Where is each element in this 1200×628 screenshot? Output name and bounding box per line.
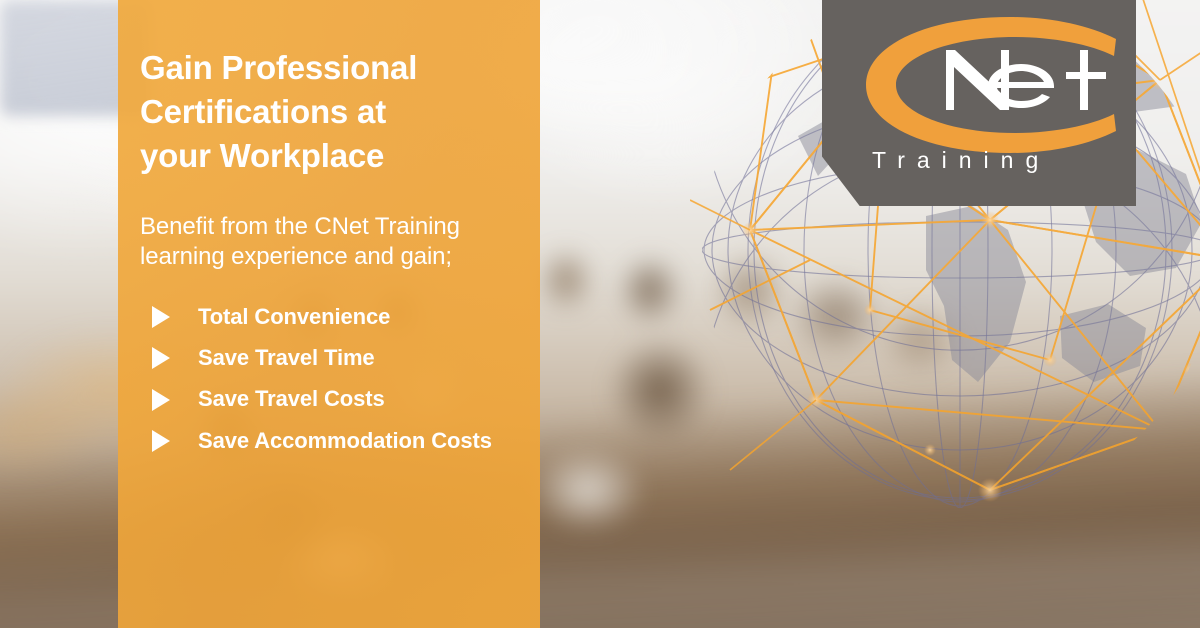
list-item: Save Travel Time <box>140 346 526 370</box>
subheading-line-2: learning experience and gain; <box>140 242 526 273</box>
logo-artwork: Training <box>822 0 1136 206</box>
promo-banner: Gain Professional Certifications at your… <box>0 0 1200 628</box>
triangle-right-icon <box>152 389 170 411</box>
benefit-label: Save Travel Time <box>198 346 375 370</box>
list-item: Save Accommodation Costs <box>140 429 526 453</box>
triangle-right-icon <box>152 430 170 452</box>
list-item: Save Travel Costs <box>140 387 526 411</box>
headline-line-1: Gain Professional <box>140 46 526 90</box>
benefit-label: Total Convenience <box>198 305 390 329</box>
benefits-list: Total Convenience Save Travel Time Save … <box>140 305 526 453</box>
content-panel-inner: Gain Professional Certifications at your… <box>140 46 526 470</box>
headline-line-2: Certifications at <box>140 90 526 134</box>
headline-line-3: your Workplace <box>140 134 526 178</box>
logo-tagline: Training <box>872 147 1050 173</box>
subheading-line-1: Benefit from the CNet Training <box>140 212 526 243</box>
benefit-label: Save Travel Costs <box>198 387 385 411</box>
page-title: Gain Professional Certifications at your… <box>140 46 526 178</box>
benefit-label: Save Accommodation Costs <box>198 429 492 453</box>
logo-net-wordmark <box>946 50 1106 110</box>
triangle-right-icon <box>152 306 170 328</box>
triangle-right-icon <box>152 347 170 369</box>
list-item: Total Convenience <box>140 305 526 329</box>
content-panel: Gain Professional Certifications at your… <box>118 0 540 628</box>
subheading: Benefit from the CNet Training learning … <box>140 212 526 273</box>
cnet-training-logo: Training <box>822 0 1136 206</box>
